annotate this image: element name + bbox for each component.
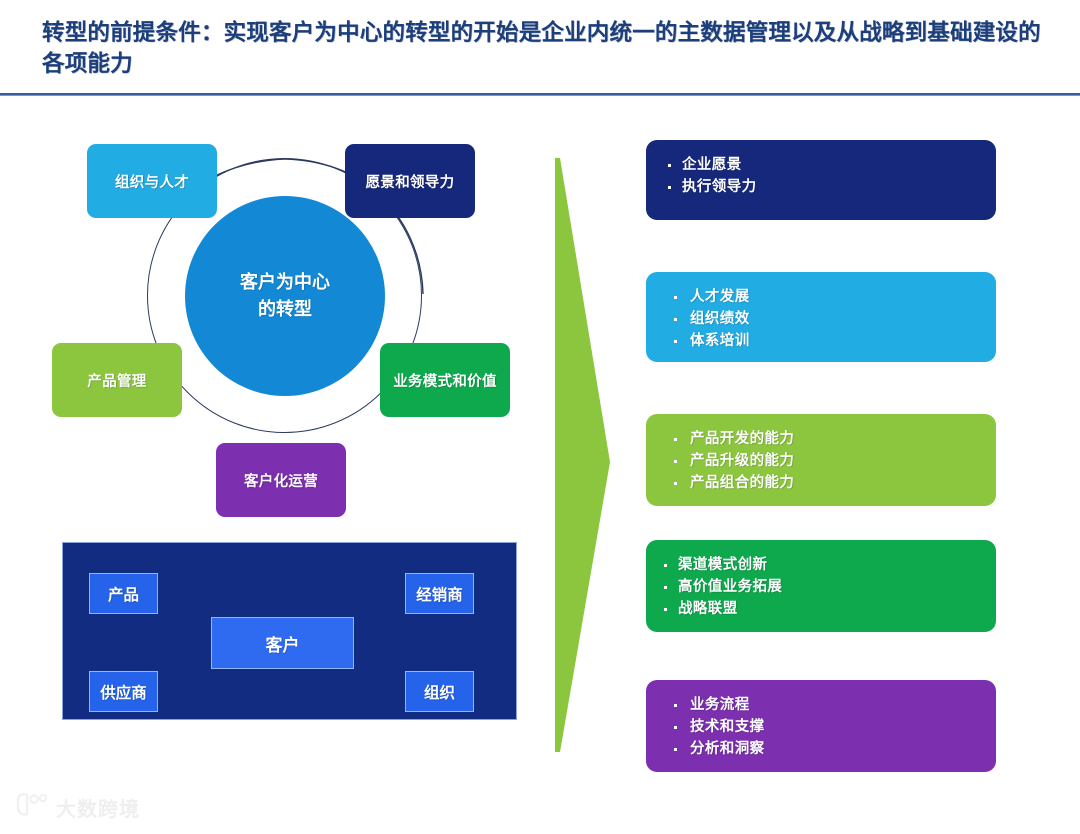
center-label-line2: 的转型 xyxy=(240,296,330,323)
chip-label: 经销商 xyxy=(416,583,463,605)
capability-item: 技术和支撑 xyxy=(646,716,996,738)
capability-panel-customer-ops[interactable]: 业务流程 技术和支撑 分析和洞察 xyxy=(646,680,996,772)
green-chevron-arrow xyxy=(552,140,614,770)
diagram-node-customer-ops[interactable]: 客户化运营 xyxy=(216,443,346,517)
capability-list: 企业愿景 执行领导力 xyxy=(646,154,996,198)
capability-item: 组织绩效 xyxy=(646,308,996,330)
capability-item: 体系培训 xyxy=(646,330,996,352)
diagram-center-label: 客户为中心 的转型 xyxy=(240,269,330,323)
diagram-node-label: 业务模式和价值 xyxy=(393,370,497,391)
capability-item: 分析和洞察 xyxy=(646,738,996,760)
capability-item: 业务流程 xyxy=(646,694,996,716)
watermark-text: 大数跨境 xyxy=(56,793,140,822)
capability-item: 企业愿景 xyxy=(646,154,996,176)
capability-panel-vision-leadership[interactable]: 企业愿景 执行领导力 xyxy=(646,140,996,220)
master-data-chip-supplier[interactable]: 供应商 xyxy=(89,671,158,712)
master-data-chip-customer[interactable]: 客户 xyxy=(211,617,354,669)
capability-list: 渠道模式创新 高价值业务拓展 战略联盟 xyxy=(646,554,996,620)
diagram-node-vision-leadership[interactable]: 愿景和领导力 xyxy=(345,144,475,218)
capability-list: 业务流程 技术和支撑 分析和洞察 xyxy=(646,694,996,760)
capability-panel-product-mgmt[interactable]: 产品开发的能力 产品升级的能力 产品组合的能力 xyxy=(646,414,996,506)
capability-panel-org-talent[interactable]: 人才发展 组织绩效 体系培训 xyxy=(646,272,996,362)
watermark-logo-icon xyxy=(14,792,48,822)
capability-panel-list: 企业愿景 执行领导力 人才发展 组织绩效 体系培训 产品开发的能力 产品升级的能… xyxy=(646,140,996,772)
page-title: 转型的前提条件：实现客户为中心的转型的开始是企业内统一的主数据管理以及从战略到基… xyxy=(42,18,1042,80)
capability-item: 产品开发的能力 xyxy=(646,428,996,450)
master-data-chip-product[interactable]: 产品 xyxy=(89,573,158,614)
capability-item: 产品组合的能力 xyxy=(646,472,996,494)
capability-item: 执行领导力 xyxy=(646,176,996,198)
diagram-node-label: 产品管理 xyxy=(87,370,146,391)
diagram-node-product-mgmt[interactable]: 产品管理 xyxy=(52,343,182,417)
diagram-node-biz-model-value[interactable]: 业务模式和价值 xyxy=(380,343,510,417)
chip-label: 供应商 xyxy=(100,681,147,703)
capability-panel-biz-model-value[interactable]: 渠道模式创新 高价值业务拓展 战略联盟 xyxy=(646,540,996,632)
capability-item: 战略联盟 xyxy=(646,598,996,620)
capability-item: 产品升级的能力 xyxy=(646,450,996,472)
capability-list: 产品开发的能力 产品升级的能力 产品组合的能力 xyxy=(646,428,996,494)
capability-list: 人才发展 组织绩效 体系培训 xyxy=(646,286,996,352)
master-data-panel: 产品 供应商 经销商 组织 客户 xyxy=(62,542,517,720)
capability-item: 高价值业务拓展 xyxy=(646,576,996,598)
chip-label: 组织 xyxy=(424,681,455,703)
watermark: 大数跨境 xyxy=(14,792,140,822)
capability-item: 人才发展 xyxy=(646,286,996,308)
diagram-node-label: 客户化运营 xyxy=(244,470,318,491)
center-label-line1: 客户为中心 xyxy=(240,269,330,296)
diagram-node-org-talent[interactable]: 组织与人才 xyxy=(87,144,217,218)
chip-label: 客户 xyxy=(266,631,300,656)
diagram-node-label: 组织与人才 xyxy=(115,171,189,192)
diagram-node-label: 愿景和领导力 xyxy=(366,171,455,192)
master-data-chip-org[interactable]: 组织 xyxy=(405,671,474,712)
capability-item: 渠道模式创新 xyxy=(646,554,996,576)
slide-canvas: 转型的前提条件：实现客户为中心的转型的开始是企业内统一的主数据管理以及从战略到基… xyxy=(0,0,1080,834)
header-divider xyxy=(0,93,1080,96)
slide-header: 转型的前提条件：实现客户为中心的转型的开始是企业内统一的主数据管理以及从战略到基… xyxy=(0,0,1080,96)
master-data-chip-dealer[interactable]: 经销商 xyxy=(405,573,474,614)
customer-centric-circle-diagram: 客户为中心 的转型 组织与人才 愿景和领导力 产品管理 业务模式和价值 客户化运… xyxy=(30,126,540,526)
diagram-center-node[interactable]: 客户为中心 的转型 xyxy=(185,196,385,396)
chip-label: 产品 xyxy=(108,583,139,605)
